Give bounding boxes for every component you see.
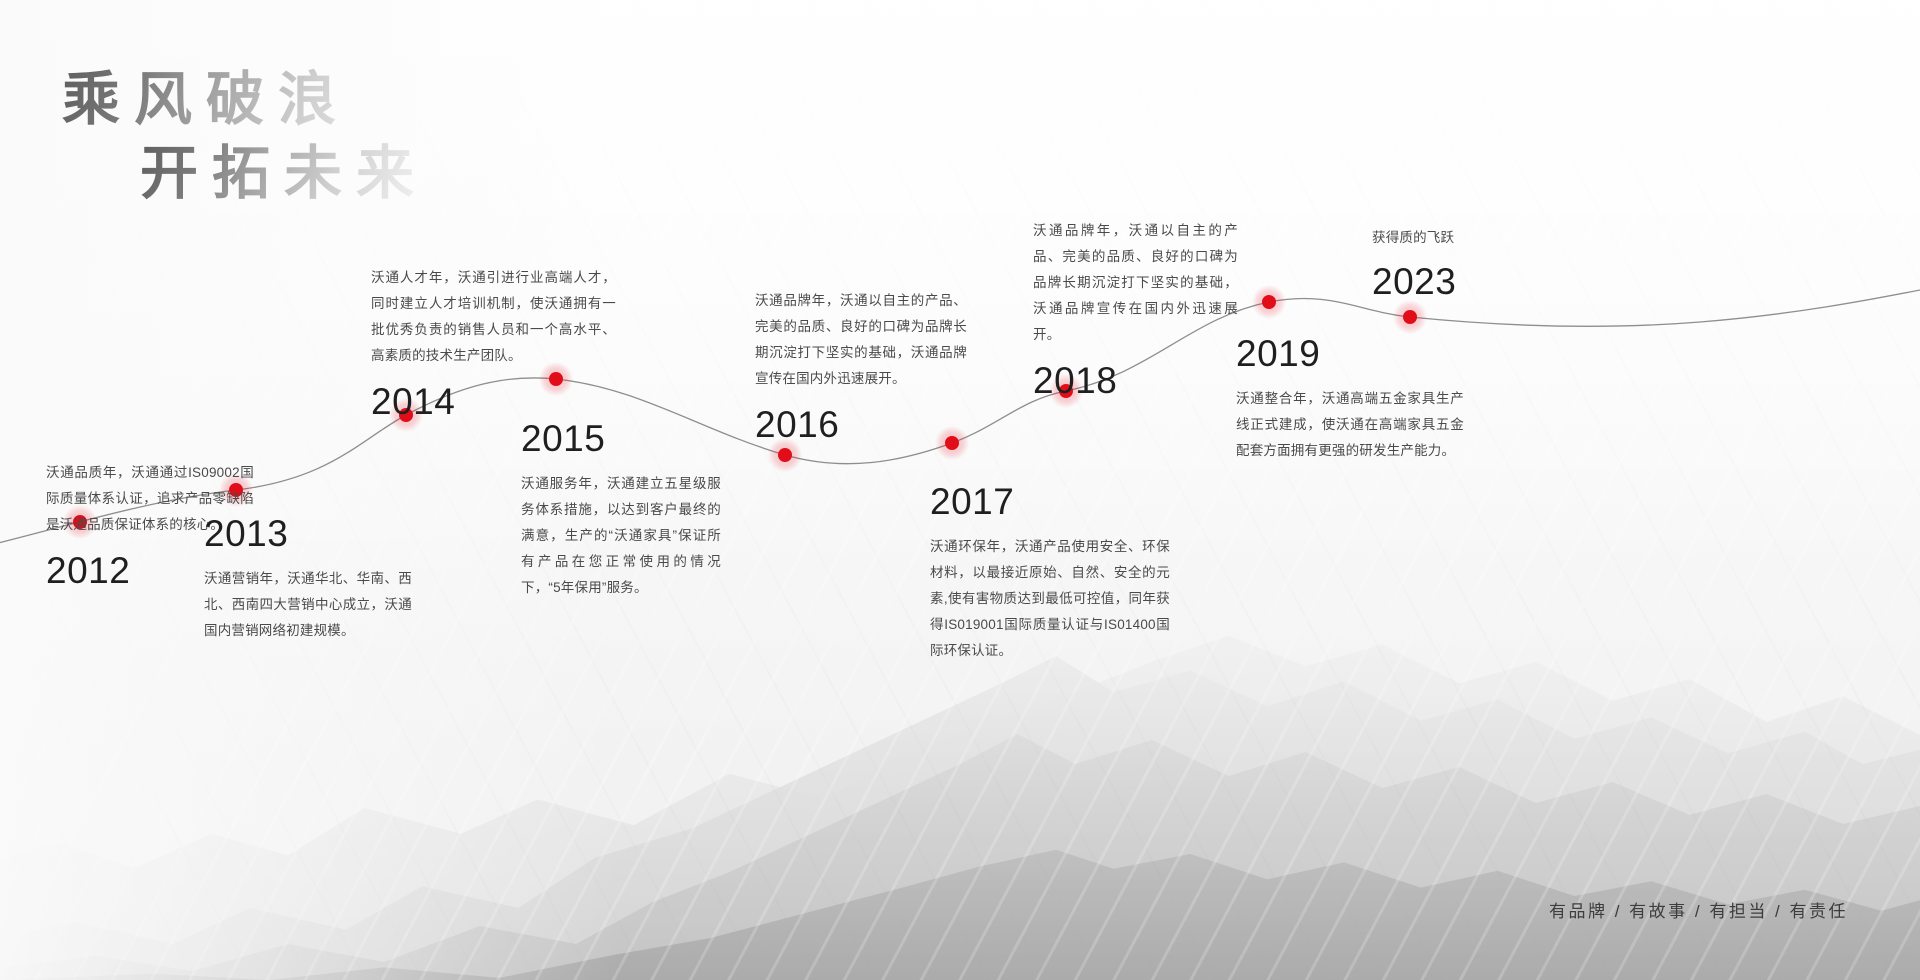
- milestone-2017-description: 沃通环保年，沃通产品使用安全、环保材料，以最接近原始、自然、安全的元素,使有害物…: [930, 534, 1170, 664]
- milestone-2014-description: 沃通人才年，沃通引进行业高端人才，同时建立人才培训机制，使沃通拥有一批优秀负责的…: [371, 265, 616, 369]
- milestone-2013-description: 沃通营销年，沃通华北、华南、西北、西南四大营销中心成立，沃通国内营销网络初建规模…: [204, 566, 412, 644]
- milestone-2023-kicker: 获得质的飞跃: [1372, 225, 1562, 251]
- dot-core-icon: [1403, 310, 1417, 324]
- milestone-2023[interactable]: 获得质的飞跃 2023: [1372, 225, 1562, 300]
- milestone-2015-year: 2015: [521, 420, 721, 457]
- milestone-2016-description: 沃通品牌年，沃通以自主的产品、完美的品质、良好的口碑为品牌长期沉淀打下坚实的基础…: [755, 288, 967, 392]
- milestone-2015-description: 沃通服务年，沃通建立五星级服务体系措施，以达到客户最终的满意，生产的“沃通家具”…: [521, 471, 721, 601]
- page-title: 乘风破浪 开拓未来: [62, 66, 428, 209]
- milestone-2015[interactable]: 2015 沃通服务年，沃通建立五星级服务体系措施，以达到客户最终的满意，生产的“…: [521, 420, 721, 601]
- footer-tagline: 有品牌 / 有故事 / 有担当 / 有责任: [1549, 897, 1848, 922]
- milestone-2014-year: 2014: [371, 383, 616, 420]
- milestone-2019[interactable]: 2019 沃通整合年，沃通高端五金家具生产线正式建成，使沃通在高端家具五金配套方…: [1236, 335, 1464, 464]
- timeline-infographic: 乘风破浪 开拓未来 沃通品质年: [0, 0, 1920, 980]
- milestone-2023-year: 2023: [1372, 263, 1562, 300]
- milestone-2018[interactable]: 沃通品牌年，沃通以自主的产品、完美的品质、良好的口碑为品牌长期沉淀打下坚实的基础…: [1033, 218, 1238, 399]
- dot-core-icon: [1262, 295, 1276, 309]
- milestone-2018-year: 2018: [1033, 362, 1238, 399]
- milestone-2017[interactable]: 2017 沃通环保年，沃通产品使用安全、环保材料，以最接近原始、自然、安全的元素…: [930, 483, 1170, 664]
- milestone-2018-description: 沃通品牌年，沃通以自主的产品、完美的品质、良好的口碑为品牌长期沉淀打下坚实的基础…: [1033, 218, 1238, 348]
- page-title-line-1: 乘风破浪: [62, 66, 428, 134]
- milestone-2019-year: 2019: [1236, 335, 1464, 372]
- milestone-2013-year: 2013: [204, 515, 412, 552]
- milestone-2016-year: 2016: [755, 406, 967, 443]
- milestone-2013[interactable]: 2013 沃通营销年，沃通华北、华南、西北、西南四大营销中心成立，沃通国内营销网…: [204, 515, 412, 644]
- milestone-2014[interactable]: 沃通人才年，沃通引进行业高端人才，同时建立人才培训机制，使沃通拥有一批优秀负责的…: [371, 265, 616, 420]
- dot-core-icon: [778, 448, 792, 462]
- milestone-2019-description: 沃通整合年，沃通高端五金家具生产线正式建成，使沃通在高端家具五金配套方面拥有更强…: [1236, 386, 1464, 464]
- milestone-2016[interactable]: 沃通品牌年，沃通以自主的产品、完美的品质、良好的口碑为品牌长期沉淀打下坚实的基础…: [755, 288, 967, 443]
- milestone-2017-year: 2017: [930, 483, 1170, 520]
- page-title-line-2: 开拓未来: [140, 140, 428, 208]
